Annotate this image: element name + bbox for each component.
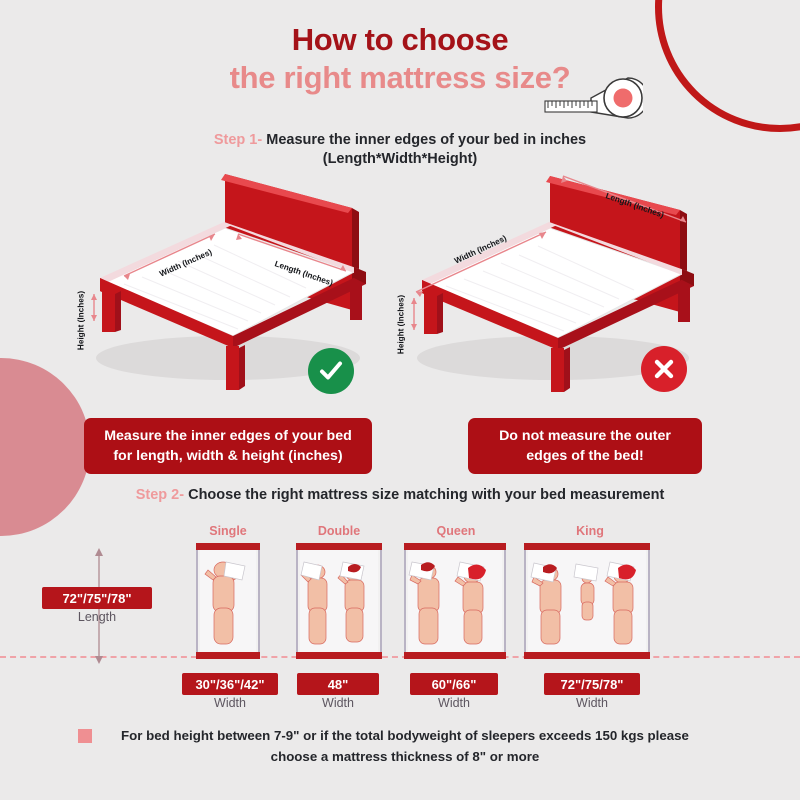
bed-rail-top xyxy=(296,543,382,550)
length-label: Length xyxy=(42,610,152,624)
bed-rail-bottom xyxy=(404,652,506,659)
incorrect-caption-line2: edges of the bed! xyxy=(526,448,643,464)
infographic-canvas: How to choose the right mattress size? S… xyxy=(0,0,800,800)
width-value-queen: 60"/66" xyxy=(410,673,498,695)
bed-rail-top xyxy=(196,543,260,550)
bedcard-single xyxy=(196,543,260,659)
step2-heading: Step 2- Choose the right mattress size m… xyxy=(0,487,800,503)
step1-tag: Step 1- xyxy=(214,132,262,148)
page-title-line2: the right mattress size? xyxy=(0,60,800,96)
decorative-dashed-divider xyxy=(0,656,800,658)
label-height-left: Height (Inches) xyxy=(77,291,86,350)
size-header-king: King xyxy=(530,524,650,538)
bed-rail-top xyxy=(524,543,650,550)
incorrect-caption-banner: Do not measure the outer edges of the be… xyxy=(468,418,702,474)
measuring-tape-icon xyxy=(533,68,643,123)
page-title-line1: How to choose xyxy=(0,22,800,58)
incorrect-caption-line1: Do not measure the outer xyxy=(499,428,671,444)
bed-rail-top xyxy=(404,543,506,550)
width-value-single: 30"/36"/42" xyxy=(182,673,278,695)
bed-rail-bottom xyxy=(524,652,650,659)
sleeper-illustration-single xyxy=(198,550,258,652)
sleeper-illustration-king xyxy=(526,550,648,652)
correct-caption-line1: Measure the inner edges of your bed xyxy=(104,428,352,444)
bed-rail-bottom xyxy=(296,652,382,659)
width-label-single: Width xyxy=(182,696,278,710)
size-header-double: Double xyxy=(290,524,388,538)
step2-tag: Step 2- xyxy=(136,487,184,503)
bedcard-king xyxy=(524,543,650,659)
correct-caption-line2: for length, width & height (inches) xyxy=(113,448,342,464)
width-label-double: Width xyxy=(297,696,379,710)
width-label-king: Width xyxy=(544,696,640,710)
sleeper-illustration-double xyxy=(298,550,380,652)
check-badge xyxy=(308,348,354,394)
size-header-single: Single xyxy=(182,524,274,538)
decorative-pink-circle xyxy=(0,358,90,536)
length-value-tag: 72"/75"/78" xyxy=(42,587,152,609)
size-header-queen: Queen xyxy=(404,524,508,538)
step2-text: Choose the right mattress size matching … xyxy=(188,487,664,503)
step1-heading: Step 1- Measure the inner edges of your … xyxy=(0,132,800,148)
footnote-text: For bed height between 7-9" or if the to… xyxy=(100,725,710,767)
cross-badge xyxy=(641,346,687,392)
bedcard-double xyxy=(296,543,382,659)
bedcard-queen xyxy=(404,543,506,659)
bed-rail-bottom xyxy=(196,652,260,659)
step1-text: Measure the inner edges of your bed in i… xyxy=(266,132,586,148)
check-icon xyxy=(318,358,344,384)
label-height-right: Height (Inches) xyxy=(397,295,406,354)
correct-caption-banner: Measure the inner edges of your bed for … xyxy=(84,418,372,474)
width-value-king: 72"/75/78" xyxy=(544,673,640,695)
width-value-double: 48" xyxy=(297,673,379,695)
sleeper-illustration-queen xyxy=(406,550,504,652)
cross-icon xyxy=(653,358,675,380)
pink-square-bullet-icon xyxy=(78,729,92,743)
width-label-queen: Width xyxy=(410,696,498,710)
